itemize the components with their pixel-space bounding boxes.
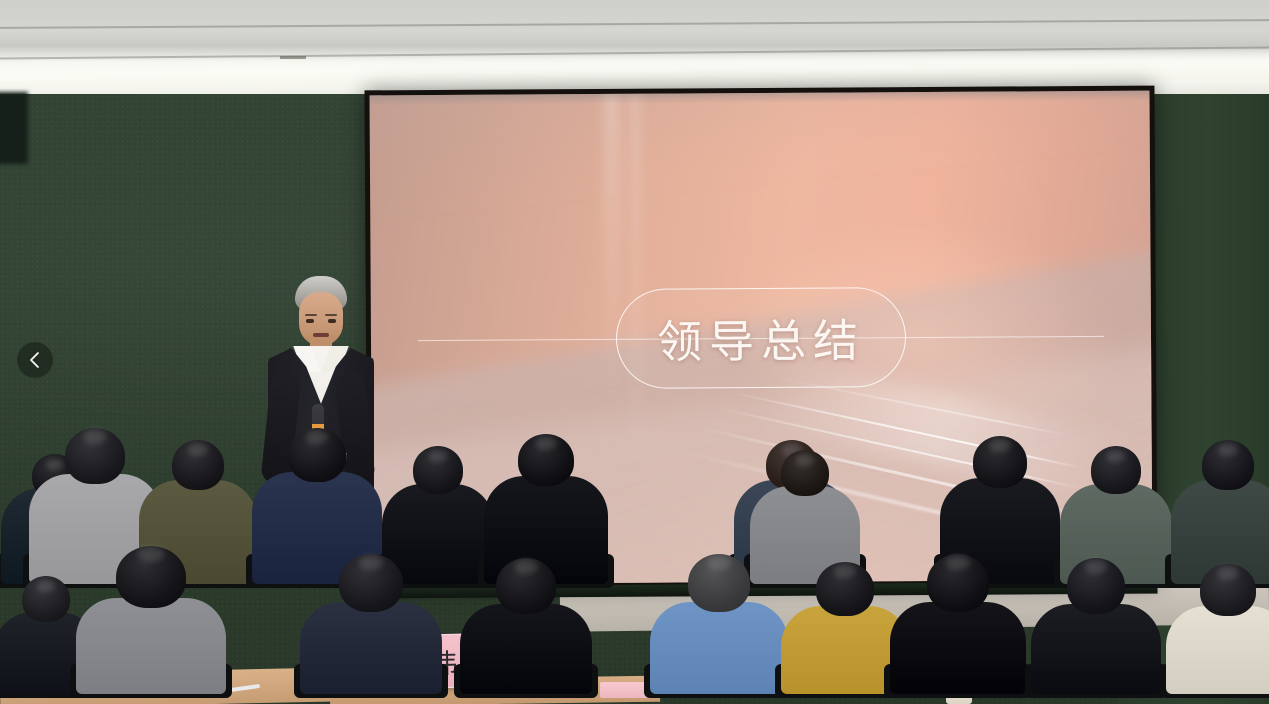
audience-member-torso [76,598,226,694]
audience-member [470,548,582,694]
audience-member-hair-highlight [990,438,1011,452]
audience-member-hair-highlight [138,546,165,562]
audience-member-torso [1031,604,1161,694]
photo-viewer: 领导总结 伟 [0,0,1269,704]
audience-member [1040,548,1152,694]
audience-member-hair-highlight [1107,450,1126,462]
audience-member-torso [890,602,1026,694]
audience-member-torso [300,602,442,694]
chevron-left-icon [28,350,42,370]
audience-member-hair-highlight [1218,566,1239,580]
previous-image-button[interactable] [17,342,53,378]
audience-member-hair-highlight [188,443,208,456]
audience-member-hair-highlight [834,564,856,578]
audience-member-hair-highlight [429,450,448,462]
audience-member-hair-highlight [515,559,538,574]
audience-member-hair-highlight [707,555,731,570]
audience-member [310,544,432,694]
audience-member [900,544,1016,694]
audience-member-hair-highlight [84,429,107,444]
audience-member-hair-highlight [536,436,557,450]
audience-member-torso [650,602,788,694]
audience [0,454,1269,704]
audience-member-torso [1166,606,1269,694]
presenter-mouth [313,333,329,337]
audience-member-hair-highlight [1085,559,1107,574]
audience-member-hair-highlight [37,580,55,592]
ceiling-seam [0,19,1269,29]
audience-member [1175,554,1269,694]
audience-member [86,536,216,694]
audience-member-hair-highlight [306,430,328,444]
audience-member-hair-highlight [796,454,814,466]
slide-title-pill: 领导总结 [616,287,907,389]
audience-member-torso [460,604,592,694]
audience-member-hair-highlight [1218,443,1238,456]
presenter-eye [306,319,314,323]
presenter-brow [305,314,317,316]
presenter-brow [325,314,337,316]
presenter-eye [328,319,336,323]
slide-title: 领导总结 [657,304,865,370]
wall-corner-shadow [0,92,28,164]
audience-member [660,544,778,694]
audience-member-hair-highlight [359,555,383,570]
audience-member-hair-highlight [946,555,970,570]
